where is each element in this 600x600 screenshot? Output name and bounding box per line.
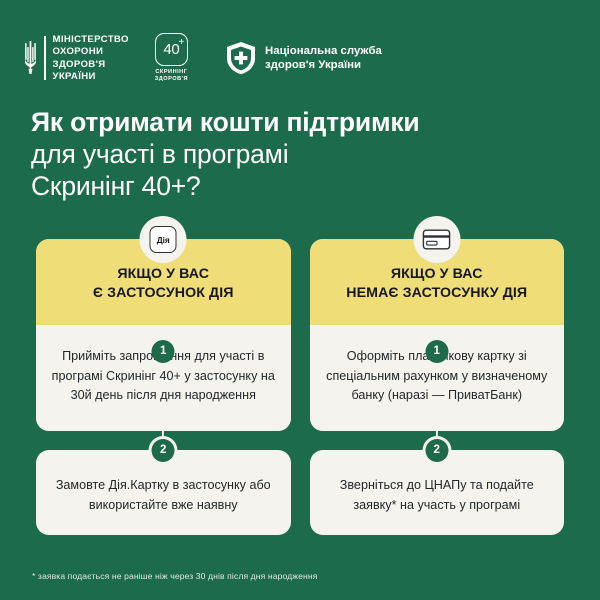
step-2-text: Зверніться до ЦНАПу та подайте заявку* н…: [320, 476, 555, 515]
options-columns: Дія ЯКЩО У ВАС Є ЗАСТОСУНОК ДІЯ Прийміть…: [36, 216, 564, 535]
ministry-line-4: УКРАЇНИ: [53, 71, 129, 82]
option-header-line-1: ЯКЩО У ВАС: [318, 265, 557, 284]
logo-bar: МІНІСТЕРСТВО ОХОРОНИ ЗДОРОВ'Я УКРАЇНИ 40…: [24, 27, 576, 89]
ministry-name: МІНІСТЕРСТВО ОХОРОНИ ЗДОРОВ'Я УКРАЇНИ: [53, 34, 129, 82]
screening-caption-line-1: СКРИНІНГ: [155, 69, 188, 76]
screening-plus-sign: +: [179, 38, 185, 48]
screening-caption: СКРИНІНГ ЗДОРОВ'Я: [155, 69, 188, 83]
footnote: * заявка подається не раніше ніж через 3…: [32, 570, 576, 582]
credit-card-icon: [423, 229, 451, 250]
step-2-card-no-dia: Зверніться до ЦНАПу та подайте заявку* н…: [310, 450, 565, 535]
step-2-text: Замовте Дія.Картку в застосунку або вико…: [46, 476, 281, 515]
screening-40plus-icon: 40 +: [155, 33, 188, 66]
option-column-no-dia: ЯКЩО У ВАС НЕМАЄ ЗАСТОСУНКУ ДІЯ Оформіть…: [310, 216, 565, 535]
option-column-has-dia: Дія ЯКЩО У ВАС Є ЗАСТОСУНОК ДІЯ Прийміть…: [36, 216, 291, 535]
ministry-of-health-logo: МІНІСТЕРСТВО ОХОРОНИ ЗДОРОВ'Я УКРАЇНИ: [24, 34, 129, 82]
ministry-line-1: МІНІСТЕРСТВО: [53, 34, 129, 45]
ukraine-trident-icon: [24, 37, 37, 79]
step-2-wrapper-has-dia: Замовте Дія.Картку в застосунку або вико…: [36, 450, 291, 535]
nszu-name: Національна служба здоров'я України: [265, 44, 382, 72]
infographic-page: МІНІСТЕРСТВО ОХОРОНИ ЗДОРОВ'Я УКРАЇНИ 40…: [0, 0, 600, 600]
step-2-badge: 2: [425, 439, 448, 462]
option-card-no-dia: ЯКЩО У ВАС НЕМАЄ ЗАСТОСУНКУ ДІЯ Оформіть…: [310, 239, 565, 431]
option-card-has-dia: ЯКЩО У ВАС Є ЗАСТОСУНОК ДІЯ Прийміть зап…: [36, 239, 291, 431]
step-2-badge: 2: [152, 439, 175, 462]
ministry-line-2: ОХОРОНИ: [53, 46, 129, 57]
screening-caption-line-2: ЗДОРОВ'Я: [155, 76, 188, 83]
nszu-logo: Національна служба здоров'я України: [226, 41, 382, 75]
dia-app-icon: Дія: [150, 226, 177, 253]
title-line-2: для участі в програмі: [31, 138, 576, 170]
dia-app-icon-bubble: Дія: [140, 216, 187, 263]
title-line-3: Скринінг 40+?: [31, 170, 576, 202]
ministry-line-3: ЗДОРОВ'Я: [53, 59, 129, 70]
step-2-card-has-dia: Замовте Дія.Картку в застосунку або вико…: [36, 450, 291, 535]
screening-40plus-badge: 40 + СКРИНІНГ ЗДОРОВ'Я: [155, 33, 188, 83]
credit-card-icon-bubble: [413, 216, 460, 263]
nszu-line-2: здоров'я України: [265, 58, 382, 72]
title-line-1: Як отримати кошти підтримки: [31, 106, 576, 138]
step-2-wrapper-no-dia: Зверніться до ЦНАПу та подайте заявку* н…: [310, 450, 565, 535]
step-1-badge: 1: [152, 340, 175, 363]
step-1-badge: 1: [425, 340, 448, 363]
option-header-line-1: ЯКЩО У ВАС: [44, 265, 283, 284]
page-title: Як отримати кошти підтримки для участі в…: [31, 106, 576, 202]
health-shield-cross-icon: [226, 41, 256, 75]
screening-age-number: 40: [163, 42, 179, 57]
option-header-line-2: НЕМАЄ ЗАСТОСУНКУ ДІЯ: [318, 284, 557, 303]
nszu-line-1: Національна служба: [265, 44, 382, 58]
logo-divider: [44, 36, 46, 80]
option-header-line-2: Є ЗАСТОСУНОК ДІЯ: [44, 284, 283, 303]
